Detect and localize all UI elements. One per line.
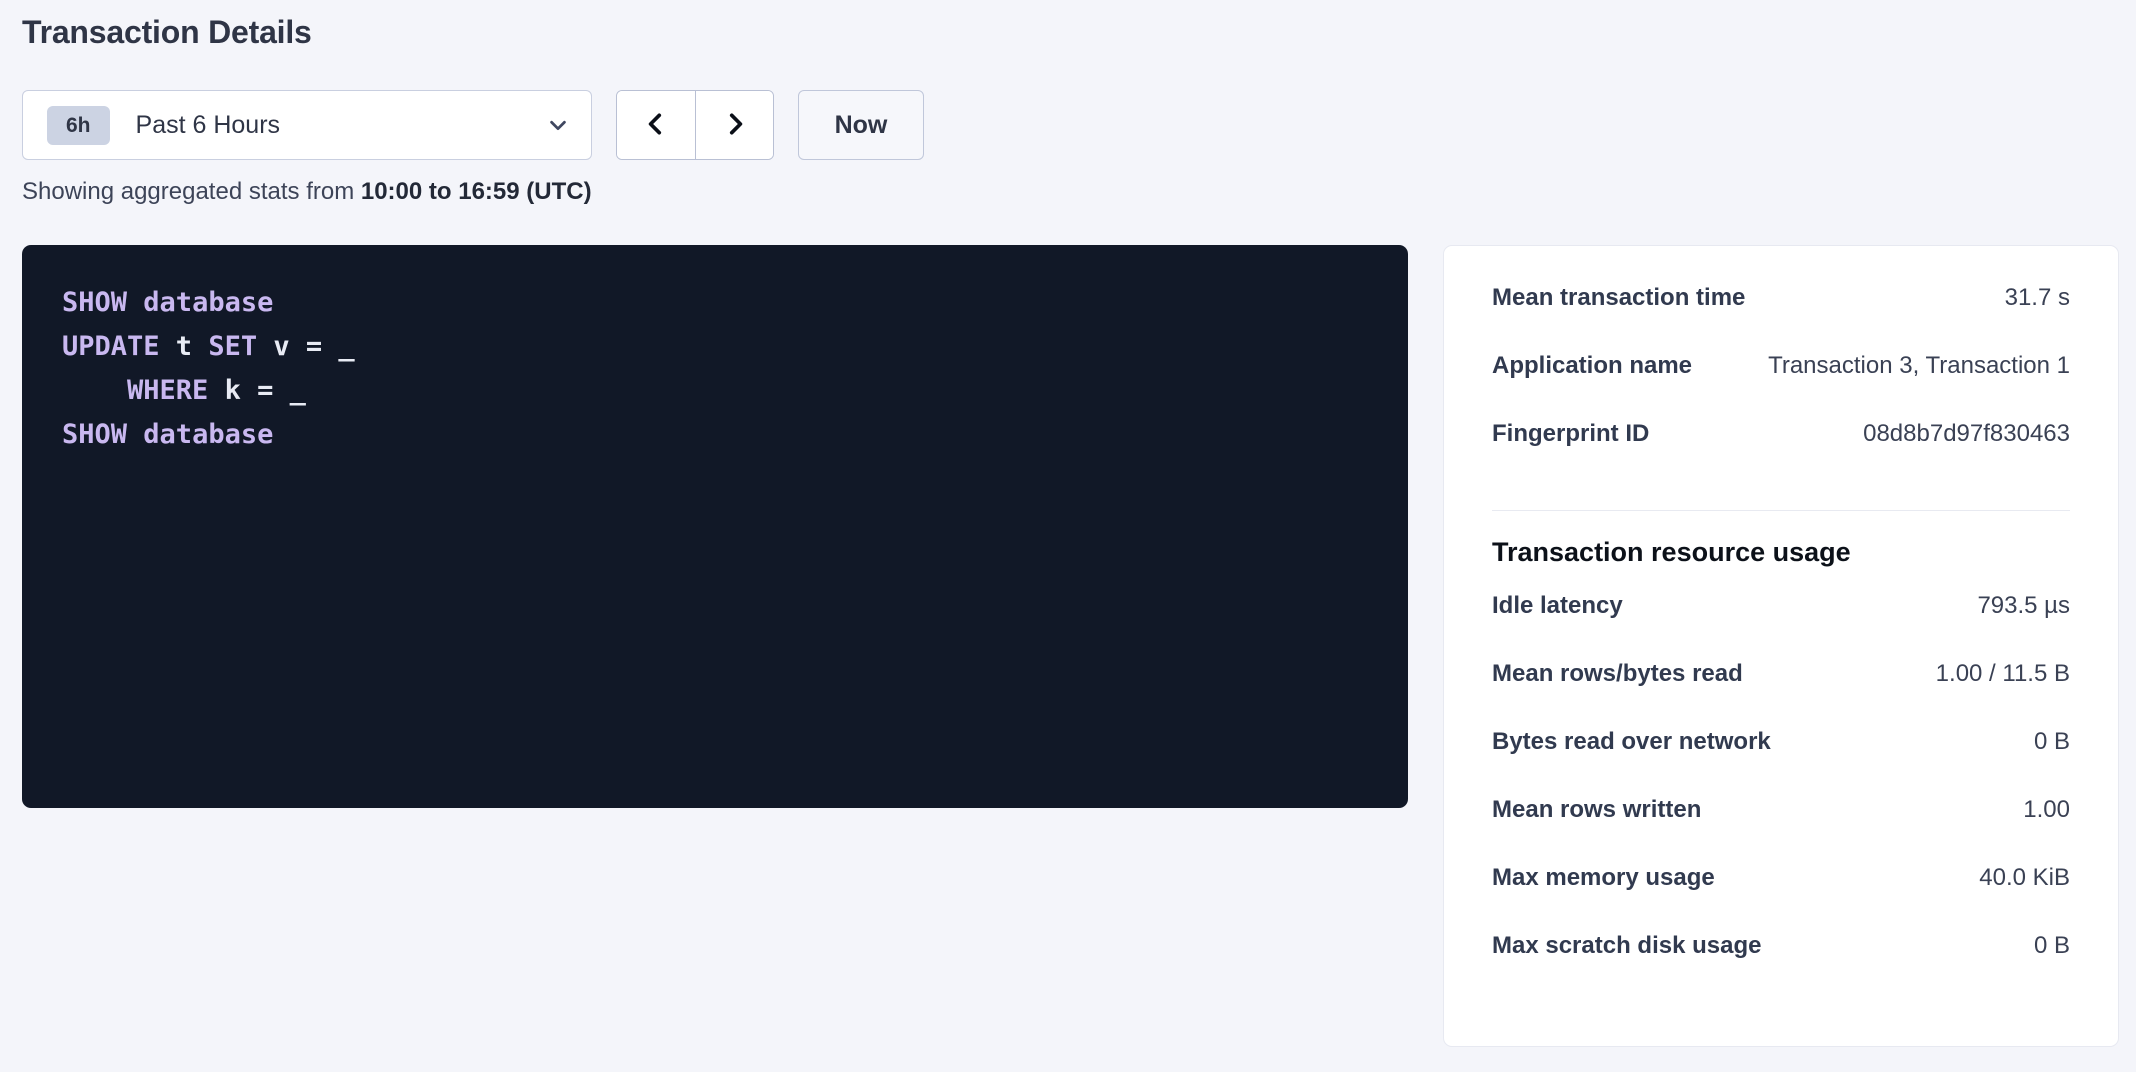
sql-token: [127, 419, 143, 450]
stat-label: Max scratch disk usage: [1492, 932, 1761, 960]
time-nav-group: [616, 90, 774, 160]
sql-code-block[interactable]: SHOW database UPDATE t SET v = _ WHERE k…: [22, 245, 1408, 808]
resource-usage-list: Idle latency793.5 µsMean rows/bytes read…: [1492, 592, 2070, 1000]
stat-value: 40.0 KiB: [1979, 864, 2070, 892]
stat-label: Application name: [1492, 352, 1692, 380]
stat-row: Mean transaction time31.7 s: [1492, 284, 2070, 352]
stat-label: Fingerprint ID: [1492, 420, 1649, 448]
time-range-label: Past 6 Hours: [136, 111, 547, 140]
stat-label: Mean rows/bytes read: [1492, 660, 1743, 688]
stat-label: Mean transaction time: [1492, 284, 1745, 312]
sql-token: t: [160, 331, 209, 362]
next-period-button[interactable]: [695, 91, 773, 159]
aggregation-range: 10:00 to 16:59 (UTC): [361, 178, 592, 205]
stat-value: 0 B: [2034, 932, 2070, 960]
previous-period-button[interactable]: [617, 91, 695, 159]
page-title: Transaction Details: [22, 14, 312, 51]
chevron-right-icon: [722, 111, 748, 140]
stat-row: Mean rows written1.00: [1492, 796, 2070, 864]
time-range-toolbar: 6h Past 6 Hours: [22, 90, 924, 160]
sql-token: [127, 287, 143, 318]
stat-row: Bytes read over network0 B: [1492, 728, 2070, 796]
stat-value: Transaction 3, Transaction 1: [1768, 352, 2070, 380]
stat-value: 31.7 s: [2005, 284, 2070, 312]
card-divider: [1492, 510, 2070, 511]
now-button[interactable]: Now: [798, 90, 924, 160]
transaction-details-page: Transaction Details 6h Past 6 Hours: [0, 0, 2136, 1072]
aggregation-range-text: Showing aggregated stats from 10:00 to 1…: [22, 178, 592, 206]
stat-label: Idle latency: [1492, 592, 1623, 620]
stat-row: Max scratch disk usage0 B: [1492, 932, 2070, 1000]
transaction-details-list: Mean transaction time31.7 sApplication n…: [1492, 284, 2070, 488]
stat-value: 1.00 / 11.5 B: [1936, 660, 2070, 688]
stat-row: Fingerprint ID08d8b7d97f830463: [1492, 420, 2070, 488]
sql-token: UPDATE: [62, 331, 160, 362]
sql-token: [62, 375, 127, 406]
sql-token: k = _: [208, 375, 306, 406]
time-range-select[interactable]: 6h Past 6 Hours: [22, 90, 592, 160]
chevron-left-icon: [643, 111, 669, 140]
stat-label: Bytes read over network: [1492, 728, 1771, 756]
sql-token: v = _: [257, 331, 355, 362]
stat-row: Application nameTransaction 3, Transacti…: [1492, 352, 2070, 420]
sql-code-text: SHOW database UPDATE t SET v = _ WHERE k…: [62, 281, 1368, 457]
sql-token: database: [143, 287, 273, 318]
aggregation-prefix: Showing aggregated stats from: [22, 178, 361, 205]
stat-row: Max memory usage40.0 KiB: [1492, 864, 2070, 932]
stat-value: 0 B: [2034, 728, 2070, 756]
transaction-stats-card: Mean transaction time31.7 sApplication n…: [1443, 245, 2119, 1047]
sql-token: SET: [208, 331, 257, 362]
resource-usage-heading: Transaction resource usage: [1492, 537, 2070, 568]
stat-row: Mean rows/bytes read1.00 / 11.5 B: [1492, 660, 2070, 728]
sql-token: database: [143, 419, 273, 450]
stat-value: 1.00: [2023, 796, 2070, 824]
stat-label: Mean rows written: [1492, 796, 1701, 824]
stat-value: 793.5 µs: [1977, 592, 2070, 620]
stat-row: Idle latency793.5 µs: [1492, 592, 2070, 660]
chevron-down-icon: [547, 114, 569, 136]
stat-label: Max memory usage: [1492, 864, 1715, 892]
stat-value: 08d8b7d97f830463: [1863, 420, 2070, 448]
sql-token: WHERE: [127, 375, 208, 406]
sql-token: SHOW: [62, 419, 127, 450]
time-range-badge: 6h: [47, 106, 110, 145]
sql-token: SHOW: [62, 287, 127, 318]
